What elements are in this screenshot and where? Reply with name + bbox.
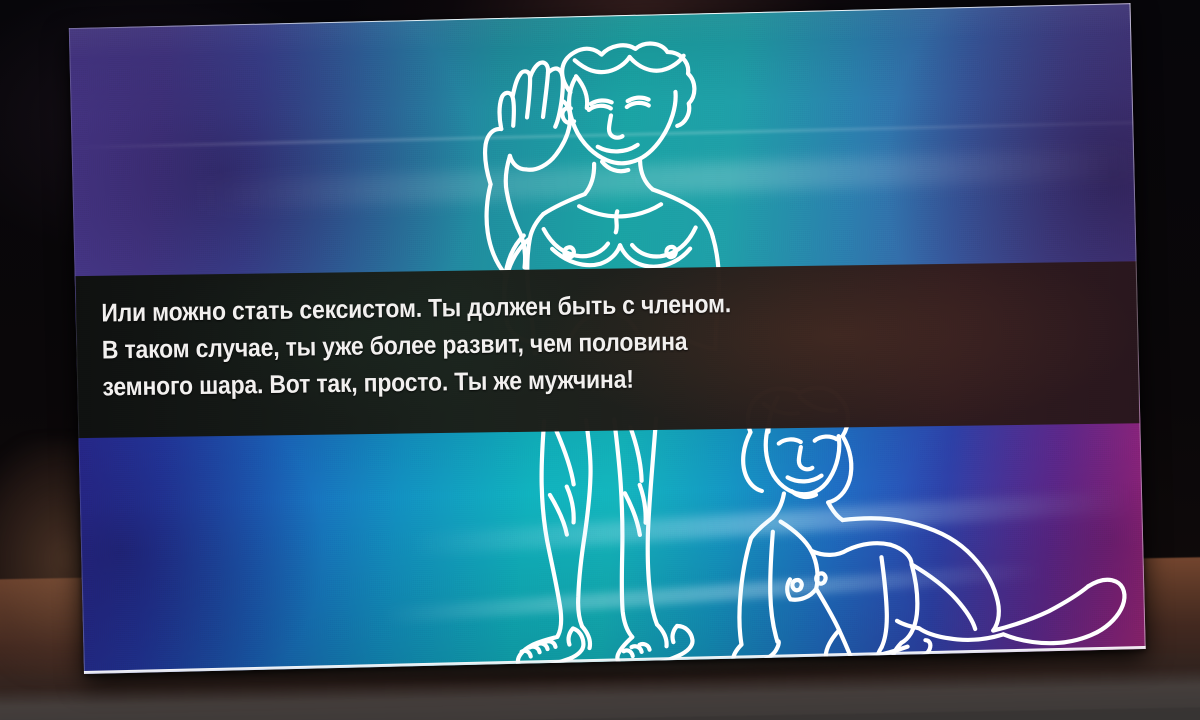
photo-scene: Или можно стать сексистом. Ты должен быт… — [0, 0, 1200, 720]
printed-card: Или можно стать сексистом. Ты должен быт… — [69, 3, 1146, 674]
card-upper-vignette — [69, 3, 1137, 286]
card-face: Или можно стать сексистом. Ты должен быт… — [69, 3, 1146, 674]
card-caption: Или можно стать сексистом. Ты должен быт… — [101, 284, 863, 406]
card-lower-vignette — [78, 407, 1145, 674]
